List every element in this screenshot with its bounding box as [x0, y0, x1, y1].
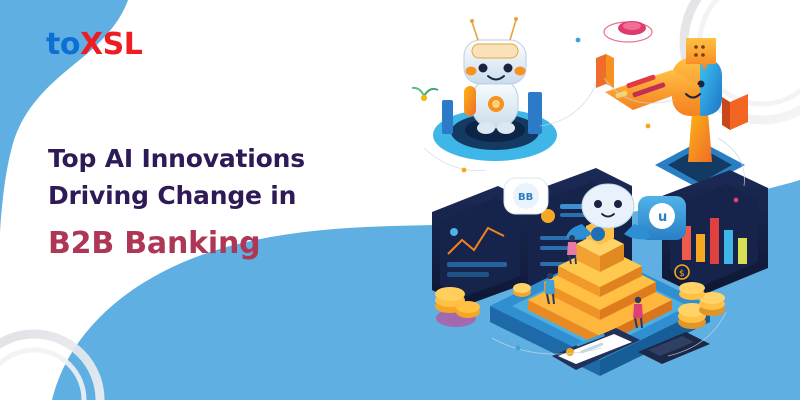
- bar-5: [738, 238, 747, 264]
- logo-part-x: X: [80, 27, 103, 62]
- banner-root: toXSL Top AI Innovations Driving Change …: [0, 0, 800, 400]
- headline-block: Top AI Innovations Driving Change in B2B…: [48, 140, 378, 266]
- robot-bar-left: [442, 100, 453, 134]
- robot-eye-right: [504, 64, 513, 73]
- svg-text:u: u: [658, 210, 667, 225]
- bar-4: [724, 230, 733, 264]
- chat-bubble-bb: BB: [504, 178, 548, 214]
- chatbot-character: [596, 21, 748, 189]
- robot-bar-right: [528, 92, 542, 134]
- ai-b2b-banking-illustration: $ BB u: [400, 0, 800, 400]
- logo-part-sl: SL: [103, 27, 143, 62]
- pink-saucer: [604, 21, 652, 42]
- headline-line-2: Driving Change in: [48, 177, 378, 214]
- logo-part-to: to: [46, 27, 80, 62]
- coin-single: [513, 283, 531, 297]
- svg-text:$: $: [679, 269, 685, 279]
- coin-stack-right: [678, 282, 725, 329]
- robot-eye-left: [479, 64, 488, 73]
- bar-2: [696, 234, 705, 262]
- headline-line-3-accent: B2B Banking: [48, 222, 378, 266]
- robot-character: [412, 17, 557, 161]
- headline-line-1: Top AI Innovations: [48, 140, 378, 177]
- bar-3: [710, 218, 719, 264]
- svg-text:BB: BB: [518, 192, 533, 203]
- toxsl-logo[interactable]: toXSL: [46, 30, 142, 60]
- plant-sprout: [412, 88, 438, 101]
